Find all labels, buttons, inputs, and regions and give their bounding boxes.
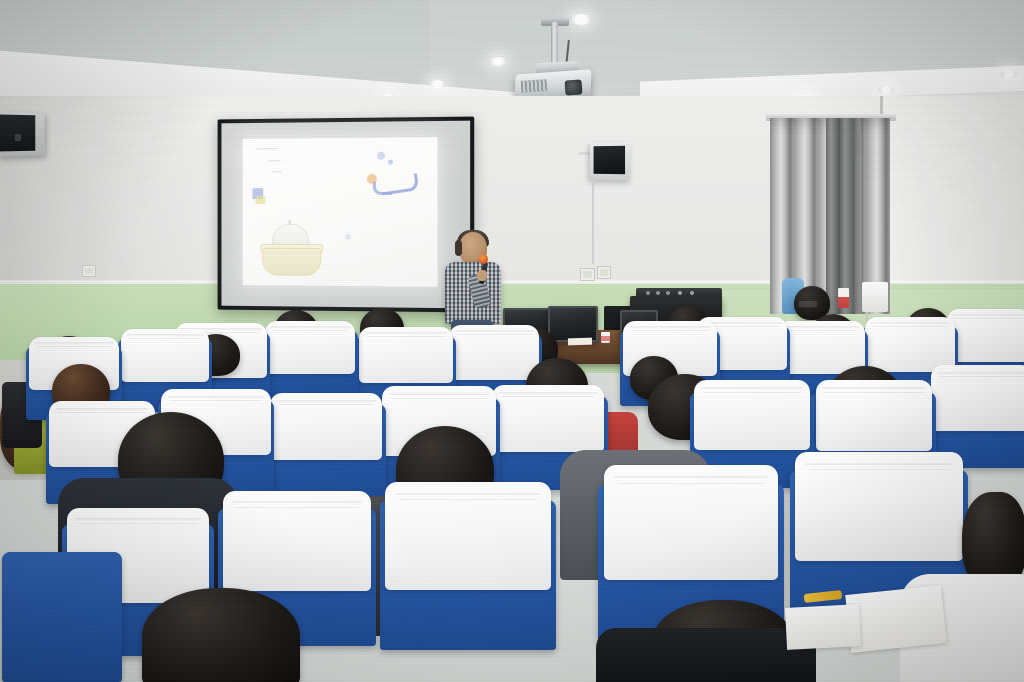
seat-seam bbox=[939, 376, 1024, 377]
wall-speaker-left bbox=[0, 111, 45, 156]
monitor-right bbox=[548, 306, 598, 342]
seat-seam bbox=[953, 318, 1024, 319]
outlet-face bbox=[85, 268, 93, 274]
seat-seam bbox=[501, 396, 596, 397]
downlight-icon bbox=[878, 86, 894, 94]
seat-seam bbox=[78, 523, 198, 524]
outlet-face bbox=[600, 269, 608, 276]
slide-title-text: •••••••••• bbox=[256, 147, 277, 154]
downlight-icon bbox=[429, 80, 446, 88]
seat-seam bbox=[784, 330, 858, 331]
seat-headrest-cover bbox=[492, 385, 605, 453]
seat-seam bbox=[809, 469, 950, 470]
lecture-hall-photo: •••••••••• •••••••• •••••• bbox=[0, 0, 1024, 682]
seat-seam bbox=[279, 404, 374, 405]
seat-headrest-cover bbox=[359, 327, 453, 383]
seat-seam bbox=[170, 400, 262, 401]
slide-faint-dot bbox=[345, 234, 351, 240]
seat-back bbox=[2, 552, 122, 682]
seat-foreground[interactable] bbox=[2, 552, 122, 682]
projected-slide: •••••••••• •••••••• •••••• bbox=[243, 137, 438, 287]
seat-seam bbox=[703, 392, 801, 393]
audience-head-foreground bbox=[142, 588, 300, 682]
seat[interactable] bbox=[266, 404, 386, 498]
seat-seam bbox=[825, 392, 923, 393]
seat-headrest-cover bbox=[777, 321, 865, 374]
seat-seam bbox=[399, 499, 538, 500]
seat-headrest-cover bbox=[865, 317, 955, 372]
seat-headrest-cover bbox=[270, 393, 383, 461]
seat-seam bbox=[272, 330, 348, 331]
seat-headrest-cover bbox=[121, 329, 209, 382]
wall-outlet[interactable] bbox=[580, 268, 595, 281]
slide-blue-dot-small bbox=[388, 160, 393, 165]
seat-seam bbox=[391, 398, 487, 399]
wall-speaker-right bbox=[590, 142, 631, 181]
seat-headrest-cover bbox=[694, 380, 811, 449]
seat-seam bbox=[58, 412, 146, 413]
speaker-grille bbox=[594, 146, 625, 174]
projector-lens-icon bbox=[564, 79, 582, 95]
slide-body-line: •••••• bbox=[272, 169, 281, 175]
seat-seam bbox=[631, 330, 710, 331]
outlet-face bbox=[583, 271, 592, 278]
seat-seam bbox=[128, 338, 202, 339]
desk-paper bbox=[568, 338, 592, 346]
seat-seam bbox=[872, 326, 948, 327]
seat-headrest-cover bbox=[816, 380, 933, 451]
curtain-panel-dark[interactable] bbox=[826, 118, 860, 314]
audience-dark-coat-foreground bbox=[596, 628, 816, 682]
seat-seam bbox=[367, 336, 446, 337]
wall-right-panel bbox=[884, 96, 1024, 311]
eyeglasses-icon bbox=[798, 300, 818, 308]
seat-headrest-cover bbox=[223, 491, 372, 590]
speaker-cable bbox=[592, 180, 594, 264]
seat-seam bbox=[618, 483, 765, 484]
seat-headrest-cover bbox=[385, 482, 550, 590]
presenter-hair-side bbox=[455, 240, 462, 256]
projector-vent bbox=[521, 79, 548, 93]
slide-diagram bbox=[260, 220, 321, 278]
seat-headrest-cover bbox=[604, 465, 779, 580]
paper-sheet bbox=[785, 604, 861, 650]
projection-screen: •••••••••• •••••••• •••••• bbox=[218, 117, 475, 313]
slide-body-line: •••••••• bbox=[268, 158, 280, 164]
seat-headrest-cover bbox=[449, 325, 539, 380]
speaker-driver-icon bbox=[15, 134, 21, 141]
seat-headrest-cover bbox=[265, 321, 355, 374]
microphone-icon bbox=[479, 254, 488, 264]
downlight-icon bbox=[1000, 70, 1018, 79]
seat-headrest-cover bbox=[931, 365, 1024, 431]
seat-headrest-cover bbox=[795, 452, 962, 561]
slide-wave-shape-2 bbox=[373, 182, 392, 195]
desk-cup-band bbox=[601, 336, 610, 341]
diagram-bowl bbox=[262, 248, 321, 276]
downlight-icon bbox=[570, 14, 592, 25]
seat-seam bbox=[235, 507, 360, 508]
downlight-icon bbox=[489, 57, 507, 66]
speaker-grille bbox=[0, 114, 35, 151]
slide-yellow-square bbox=[255, 196, 265, 204]
seat-seam bbox=[456, 334, 532, 335]
wall-outlet[interactable] bbox=[82, 265, 96, 277]
seat-seam bbox=[36, 346, 112, 347]
wall-outlet[interactable] bbox=[597, 266, 611, 279]
white-box bbox=[862, 282, 888, 312]
speaker-mount-arm bbox=[578, 152, 590, 155]
seat-headrest-cover bbox=[947, 309, 1024, 362]
seat-foreground[interactable] bbox=[380, 500, 556, 650]
slide-blue-dot bbox=[377, 152, 385, 160]
red-thermos bbox=[838, 288, 849, 308]
presenter-hand bbox=[477, 270, 487, 281]
